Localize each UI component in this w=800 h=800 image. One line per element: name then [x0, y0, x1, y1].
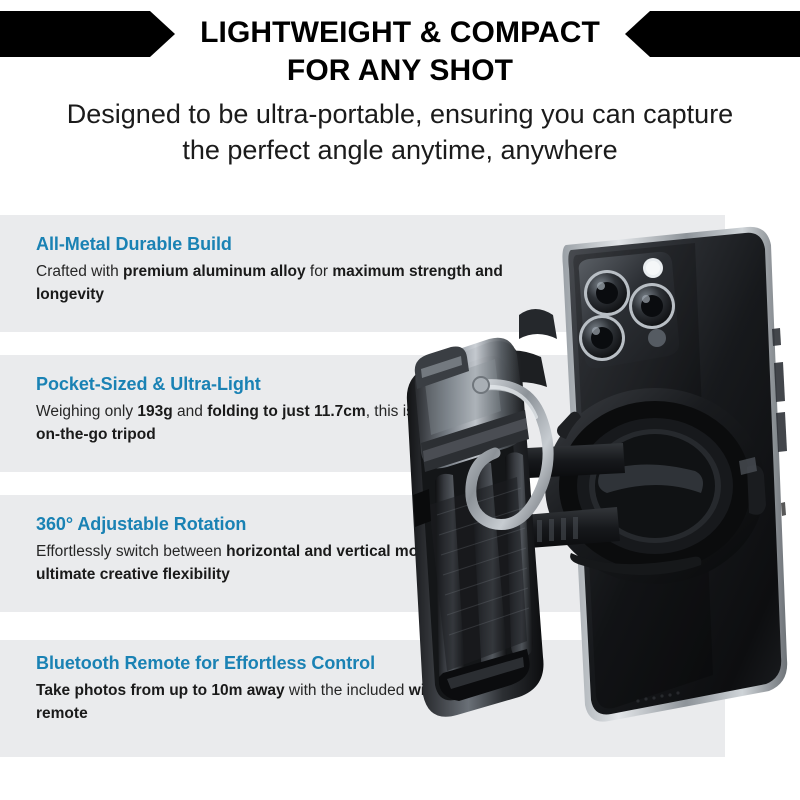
feature-body: Weighing only 193g and folding to just 1…: [36, 401, 506, 446]
feature-body-text: and: [173, 403, 207, 420]
feature-body-emphasis: folding to just 11.7cm: [207, 403, 365, 420]
feature-heading: 360° Adjustable Rotation: [36, 513, 506, 536]
feature-body-text: for: [306, 263, 333, 280]
feature-body-text: for: [445, 543, 467, 560]
feature-body: Effortlessly switch between horizontal a…: [36, 541, 506, 586]
feature-body: Crafted with premium aluminum alloy for …: [36, 261, 506, 306]
feature-body-emphasis: ultimate creative flexibility: [36, 566, 230, 583]
infographic-page: LIGHTWEIGHT & COMPACT FOR ANY SHOT Desig…: [0, 0, 800, 800]
feature-heading: Pocket-Sized & Ultra-Light: [36, 373, 506, 396]
feature-heading: All-Metal Durable Build: [36, 233, 506, 256]
feature-body-text: Effortlessly switch between: [36, 543, 226, 560]
feature-item: 360° Adjustable Rotation Effortlessly sw…: [36, 513, 506, 586]
feature-item: Bluetooth Remote for Effortless Control …: [36, 652, 506, 725]
feature-body-emphasis: Take photos from up to 10m away: [36, 682, 285, 699]
feature-body-text: Weighing only: [36, 403, 137, 420]
feature-item: Pocket-Sized & Ultra-Light Weighing only…: [36, 373, 506, 446]
feature-body-emphasis: premium aluminum alloy: [123, 263, 306, 280]
feature-body-text: with the included: [285, 682, 409, 699]
feature-heading: Bluetooth Remote for Effortless Control: [36, 652, 506, 675]
feature-body: Take photos from up to 10m away with the…: [36, 680, 506, 725]
feature-body-emphasis: 193g: [137, 403, 172, 420]
feature-body-text: , this is: [366, 403, 419, 420]
feature-list: All-Metal Durable Build Crafted with pre…: [0, 0, 800, 800]
feature-body-text: Crafted with: [36, 263, 123, 280]
feature-body-emphasis: horizontal and vertical modes: [226, 543, 445, 560]
feature-item: All-Metal Durable Build Crafted with pre…: [36, 233, 506, 306]
